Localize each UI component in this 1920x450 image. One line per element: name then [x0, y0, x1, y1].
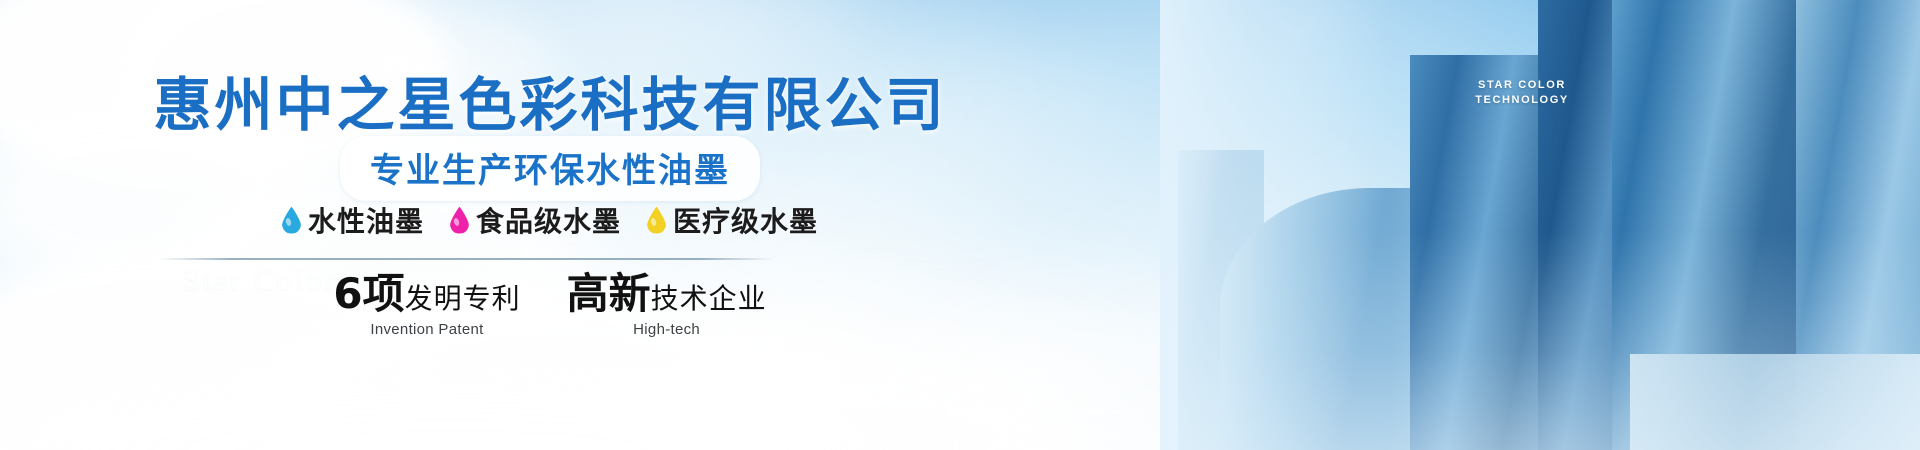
badge-title-emphasis: 6项	[333, 269, 404, 318]
tower-logo-text: STAR COLOR TECHNOLOGY	[1462, 78, 1582, 108]
list-item: 水性油墨	[282, 200, 424, 240]
badge-high-tech: 高新技术企业 High-tech	[567, 272, 767, 338]
city-skyline-image	[1160, 0, 1920, 450]
feature-list: 水性油墨 食品级水墨 医疗级水墨	[0, 200, 1100, 240]
badge-title-emphasis: 高新	[567, 269, 651, 318]
subtitle-container: 专业生产环保水性油墨	[0, 136, 1100, 201]
badge-subtitle: High-tech	[567, 321, 767, 338]
water-drop-icon	[282, 207, 301, 234]
badge-title: 高新技术企业	[567, 272, 767, 316]
list-item: 食品级水墨	[450, 200, 621, 240]
list-item: 医疗级水墨	[647, 200, 818, 240]
feature-label: 水性油墨	[308, 200, 424, 240]
badge-subtitle: Invention Patent	[333, 321, 520, 338]
water-drop-icon	[450, 207, 469, 234]
badge-invention-patent: 6项发明专利 Invention Patent	[333, 272, 520, 338]
promo-banner: ★ Star Color STAR COLOR TECHNOLOGY 惠州中之星…	[0, 0, 1920, 450]
skyline-left-fade	[1160, 0, 1390, 450]
badge-title-rest: 发明专利	[405, 282, 521, 315]
badge-title: 6项发明专利	[333, 272, 520, 316]
feature-label: 医疗级水墨	[673, 200, 818, 240]
company-title: 惠州中之星色彩科技有限公司	[0, 58, 1100, 142]
subtitle-pill: 专业生产环保水性油墨	[340, 136, 760, 201]
tower-logo-line-1: STAR COLOR	[1462, 78, 1582, 93]
feature-label: 食品级水墨	[476, 200, 621, 240]
banner-content: 惠州中之星色彩科技有限公司 专业生产环保水性油墨 水性油墨 食品级水墨 医疗级水…	[0, 0, 1100, 450]
section-divider	[158, 258, 774, 260]
tower-logo-line-2: TECHNOLOGY	[1462, 93, 1582, 108]
credential-badges: 6项发明专利 Invention Patent 高新技术企业 High-tech	[0, 272, 1100, 338]
badge-title-rest: 技术企业	[651, 282, 767, 315]
water-drop-icon	[647, 207, 666, 234]
